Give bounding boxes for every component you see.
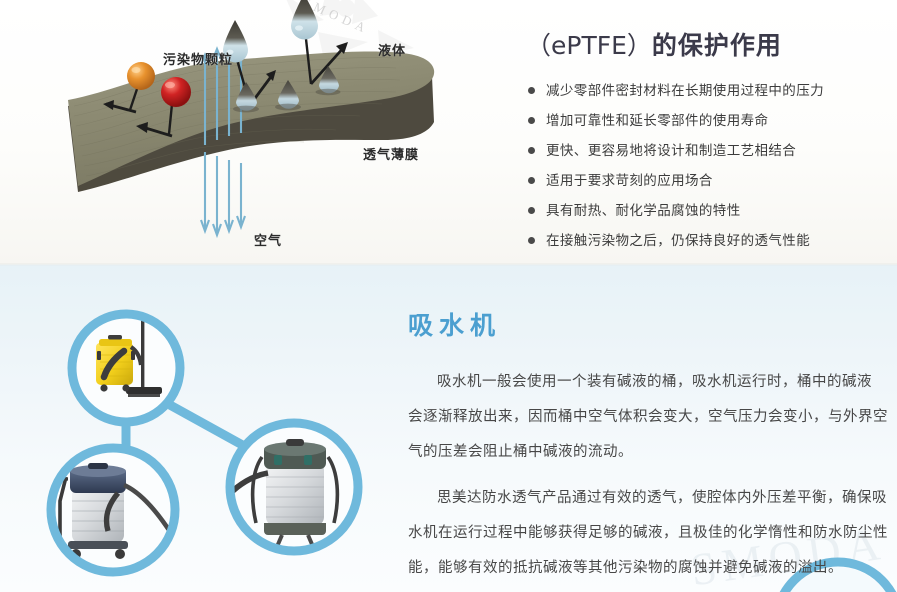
air-arrows-down	[201, 152, 245, 235]
list-item: 更快、更容易地将设计和制造工艺相结合	[528, 136, 897, 166]
paragraph-line: 思美达防水透气产品通过有效的透气，使腔体内外压差平衡，确保吸	[408, 481, 897, 516]
paragraph: 思美达防水透气产品通过有效的透气，使腔体内外压差平衡，确保吸 水机在运行过程中能…	[408, 481, 897, 586]
list-item-label: 具有耐热、耐化学品腐蚀的特性	[546, 196, 741, 226]
list-item-label: 增加可靠性和延长零部件的使用寿命	[546, 106, 768, 136]
paragraph-line: 会逐渐释放出来，因而桶中空气体积会变大，空气压力会变小，与外界空	[408, 400, 897, 435]
bullet-dot-icon	[528, 207, 535, 214]
eptfe-title-cn: 的保护作用	[652, 31, 782, 60]
article-body: 吸水机一般会使用一个装有碱液的桶，吸水机运行时，桶中的碱液 会逐渐释放出来，因而…	[408, 365, 897, 592]
paragraph-line: 水机在运行过程中能够获得足够的碱液，且极佳的化学惰性和防水防尘性	[408, 516, 897, 551]
circle-photo-yellow-wet-dry-vacuum	[72, 303, 180, 422]
bullet-dot-icon	[528, 177, 535, 184]
list-item-label: 更快、更容易地将设计和制造工艺相结合	[546, 136, 796, 166]
list-item-label: 适用于要求苛刻的应用场合	[546, 166, 713, 196]
list-item: 减少零部件密封材料在长期使用过程中的压力	[528, 76, 897, 106]
bullet-dot-icon	[528, 117, 535, 124]
circle-photo-industrial-vacuum	[152, 423, 358, 551]
list-item-label: 减少零部件密封材料在长期使用过程中的压力	[546, 76, 824, 106]
eptfe-benefit-list: 减少零部件密封材料在长期使用过程中的压力 增加可靠性和延长零部件的使用寿命 更快…	[528, 76, 897, 256]
list-item: 适用于要求苛刻的应用场合	[528, 166, 897, 196]
circle-photo-stainless-vacuum	[51, 448, 194, 572]
paragraph-line: 气的压差会阻止桶中碱液的流动。	[408, 435, 897, 470]
label-air: 空气	[254, 230, 282, 249]
product-photo-cluster	[0, 265, 400, 592]
eptfe-section-title: （ePTFE）的保护作用	[526, 26, 782, 62]
list-item: 在接触污染物之后，仍保持良好的透气性能	[528, 226, 897, 256]
brochure-page: SMODA SMODA	[0, 0, 897, 592]
bullet-dot-icon	[528, 87, 535, 94]
label-liquid: 液体	[378, 40, 406, 59]
label-contaminant-particles: 污染物颗粒	[163, 49, 233, 68]
bullet-dot-icon	[528, 237, 535, 244]
membrane-sheet	[68, 52, 434, 192]
article-title: 吸水机	[408, 306, 501, 342]
list-item-label: 在接触污染物之后，仍保持良好的透气性能	[546, 226, 810, 256]
list-item: 增加可靠性和延长零部件的使用寿命	[528, 106, 897, 136]
eptfe-title-en: （ePTFE）	[526, 31, 652, 60]
paragraph: 吸水机一般会使用一个装有碱液的桶，吸水机运行时，桶中的碱液 会逐渐释放出来，因而…	[408, 365, 897, 470]
breathable-membrane-diagram: 污染物颗粒 液体 透气薄膜 空气	[60, 0, 480, 262]
label-breathable-membrane: 透气薄膜	[363, 144, 419, 163]
paragraph-line: 吸水机一般会使用一个装有碱液的桶，吸水机运行时，桶中的碱液	[408, 365, 897, 400]
paragraph-line: 能，能够有效的抵抗碱液等其他污染物的腐蚀并避免碱液的溢出。	[408, 551, 897, 586]
bullet-dot-icon	[528, 147, 535, 154]
list-item: 具有耐热、耐化学品腐蚀的特性	[528, 196, 897, 226]
